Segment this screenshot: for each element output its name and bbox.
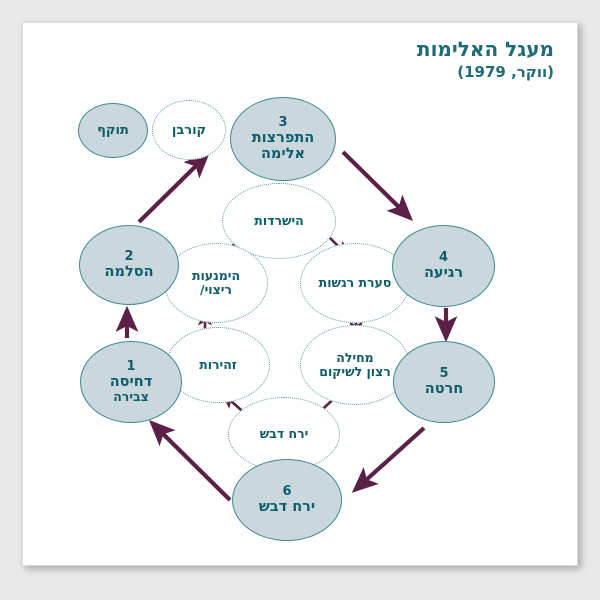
perp-node-2-escalation[interactable]: 2 הסלמה [79,225,179,305]
victim-node-honeymoon-label: ירח דבש [260,427,309,441]
perp-node-4-number: 4 [439,251,448,265]
perp-node-1-label-2: צבירה [113,390,149,404]
perp-node-3-label-2: אלימה [261,146,305,162]
perp-node-2-label: הסלמה [104,264,153,280]
victim-node-forgiveness[interactable]: מחילה רצון לשיקום [300,325,410,405]
victim-node-survival-label: הישרדות [254,214,303,228]
legend-victim: קורבן [152,100,226,160]
arrow-6-to-1 [152,423,230,500]
page-title: מעגל האלימות [417,38,554,60]
perp-node-6-label: ירח דבש [259,499,315,515]
perp-node-6-honeymoon[interactable]: 6 ירח דבש [232,459,342,541]
perp-node-5-number: 5 [439,367,448,381]
victim-node-caution-label: זהירות [199,358,237,372]
perp-node-4-label: רגיעה [424,265,463,281]
perp-node-5-label: חרטה [425,381,464,397]
diagram-stage: מעגל האלימות (ווקר, 1979) תוקף קורבן היש… [0,0,600,600]
perp-node-2-number: 2 [124,250,133,264]
victim-node-emotional-storm-label: סערת רגשות [319,276,392,290]
perp-node-1-number: 1 [126,360,135,374]
victim-node-forgiveness-label-2: רצון לשיקום [319,365,391,379]
arrow-5-to-6 [355,428,424,490]
arrow-2-to-3 [139,155,207,222]
title-block: מעגל האלימות (ווקר, 1979) [417,38,554,81]
victim-node-caution[interactable]: זהירות [166,327,270,403]
perp-node-3-outburst[interactable]: 3 התפרצות אלימה [230,97,336,181]
perp-node-1-accumulation[interactable]: 1 דחיסה צבירה [80,341,182,423]
victim-node-forgiveness-label-1: מחילה [336,351,373,365]
perp-node-3-number: 3 [278,116,287,130]
legend-perpetrator-label: תוקף [97,123,129,138]
perp-node-6-number: 6 [282,485,291,499]
perp-node-3-label-1: התפרצות [252,130,314,146]
victim-node-avoidance[interactable]: הימנעות ריצוי/ [164,243,268,323]
victim-node-avoidance-label-2: ריצוי/ [200,283,232,297]
legend-perpetrator: תוקף [78,103,148,158]
page-subtitle: (ווקר, 1979) [417,63,554,81]
legend-victim-label: קורבן [172,123,206,138]
perp-node-1-label-1: דחיסה [110,374,153,390]
perp-node-4-calm[interactable]: 4 רגיעה [392,225,495,307]
arrow-3-to-4 [343,152,410,218]
victim-node-avoidance-label-1: הימנעות [192,269,240,283]
perp-node-5-remorse[interactable]: 5 חרטה [393,341,495,423]
